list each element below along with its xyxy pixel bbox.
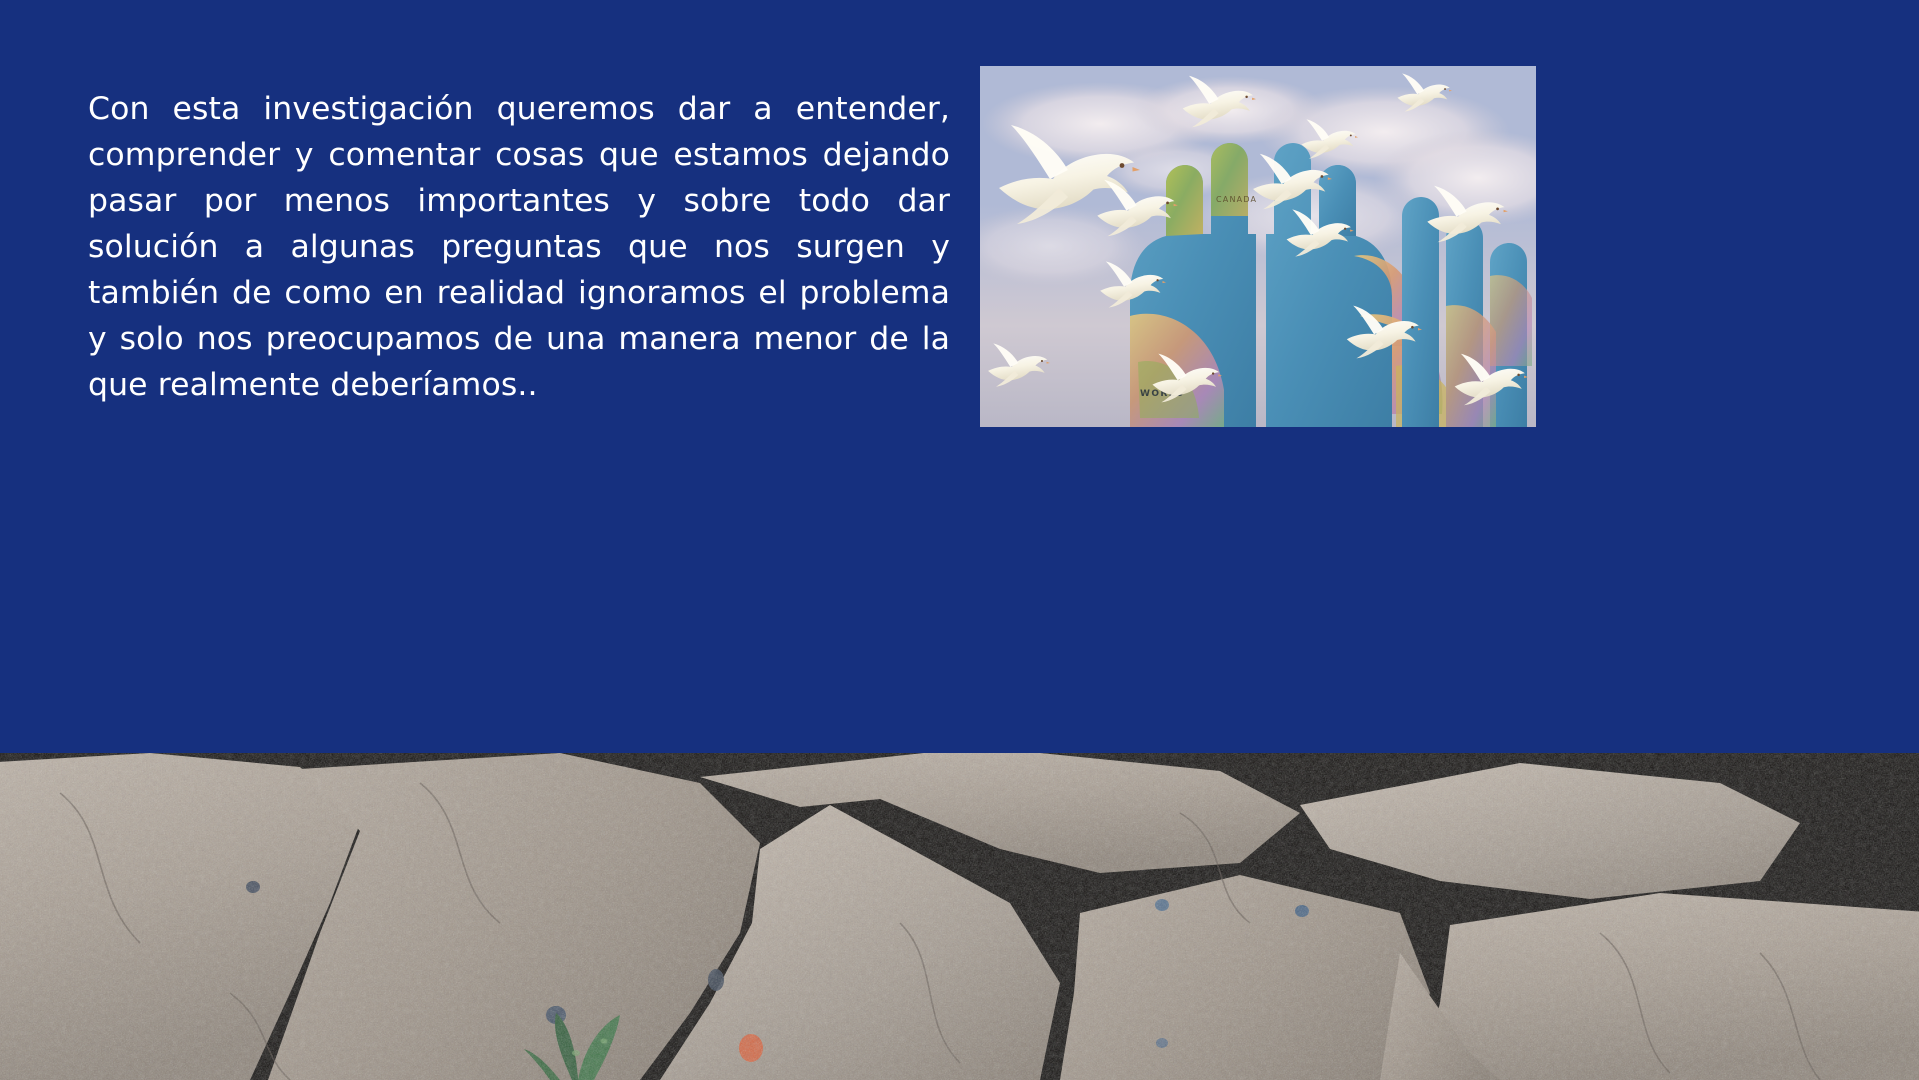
cracked-earth-image [0, 753, 1919, 1080]
slide-body-paragraph: Con esta investigación queremos dar a en… [88, 86, 950, 408]
presentation-slide: Con esta investigación queremos dar a en… [0, 0, 1919, 1080]
svg-text:CANADA: CANADA [1216, 195, 1257, 204]
hands-world-map-doves-image: CANADA WORLD [980, 66, 1536, 427]
